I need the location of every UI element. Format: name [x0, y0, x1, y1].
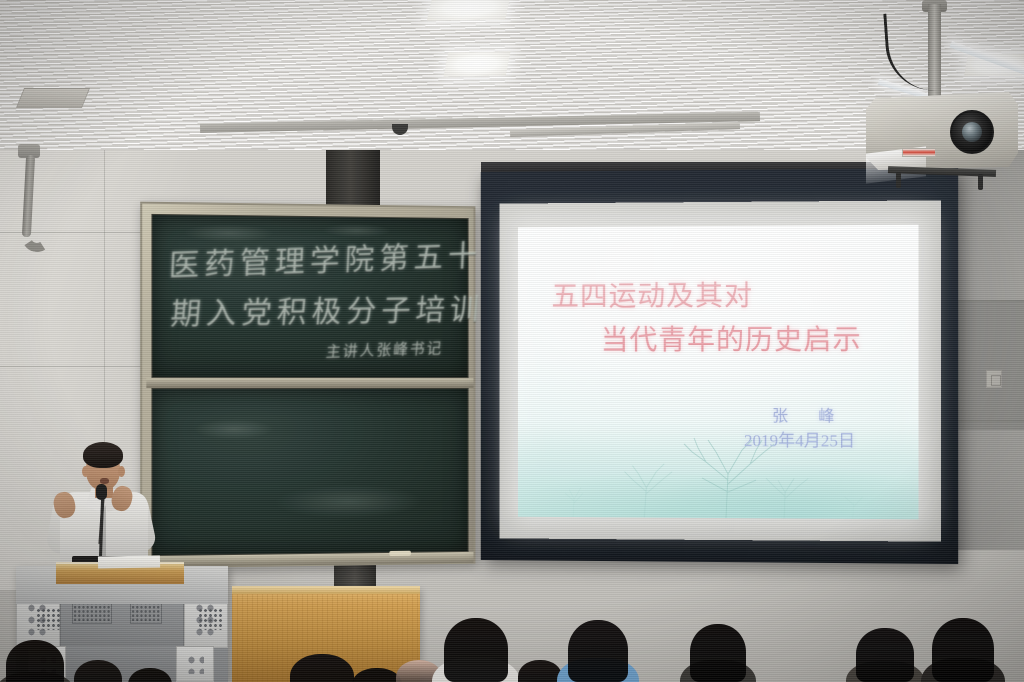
audience-member-10	[690, 624, 746, 682]
audience-member-5	[352, 668, 402, 682]
audience-head	[518, 660, 562, 682]
audience-member-4	[290, 654, 354, 682]
audience-member-1	[6, 640, 64, 682]
lecture-hall-photo: 医药管理学院第五十二 期入党积极分子培训 主讲人张峰书记	[0, 0, 1024, 682]
audience	[0, 0, 1024, 682]
audience-head	[856, 628, 914, 682]
audience-member-8	[518, 660, 562, 682]
audience-member-2	[74, 660, 122, 682]
audience-head	[290, 654, 354, 682]
audience-head	[444, 618, 508, 682]
audience-head	[6, 640, 64, 682]
audience-head	[690, 624, 746, 682]
audience-member-7	[444, 618, 508, 682]
audience-head	[568, 620, 628, 682]
audience-head	[932, 618, 994, 682]
audience-member-9	[568, 620, 628, 682]
audience-member-12	[932, 618, 994, 682]
audience-head	[352, 668, 402, 682]
audience-head	[128, 668, 172, 682]
audience-member-3	[128, 668, 172, 682]
audience-head	[74, 660, 122, 682]
audience-member-11	[856, 628, 914, 682]
